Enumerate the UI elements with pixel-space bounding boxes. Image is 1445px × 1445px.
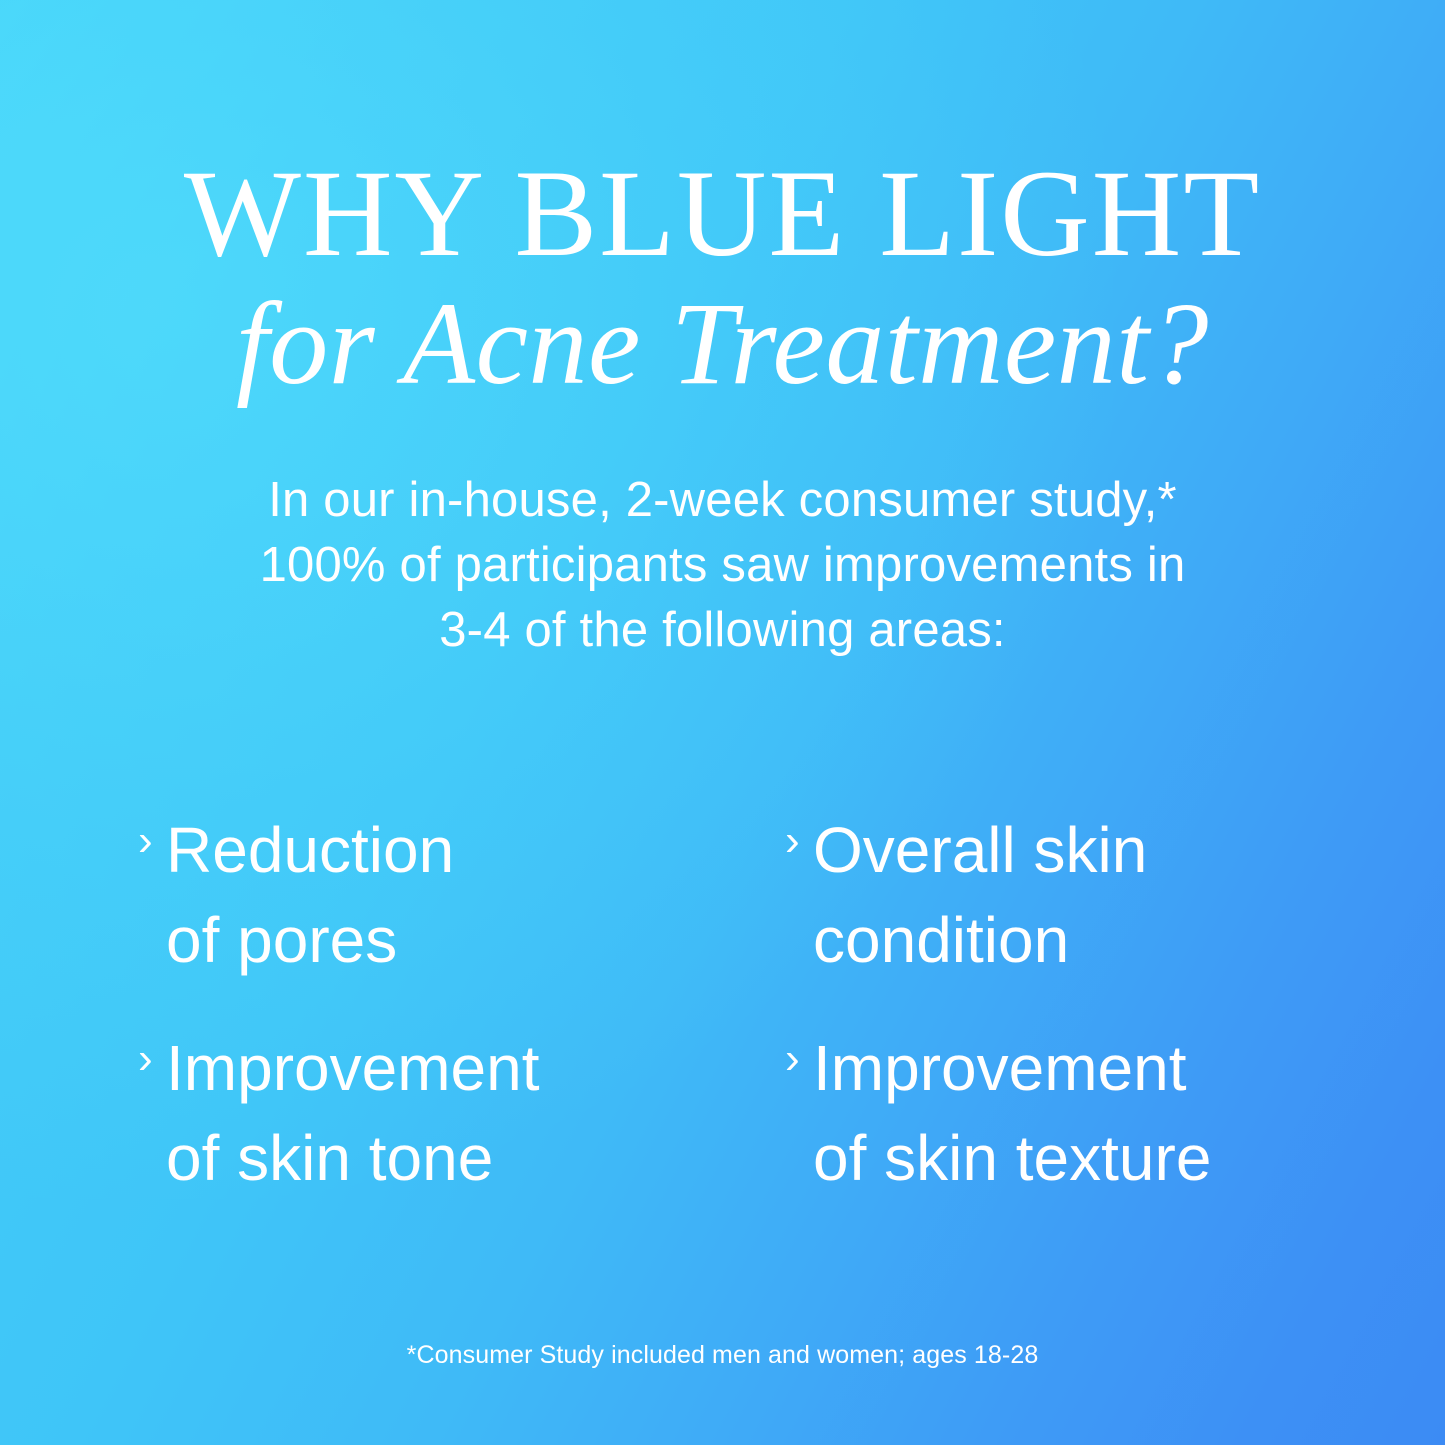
study-description: In our in-house, 2-week consumer study,*… [163,468,1283,663]
benefit-label: Improvement of skin tone [166,1023,539,1203]
chevron-right-icon: › [138,1023,166,1095]
benefit-label: Overall skin condition [813,805,1147,985]
study-description-line-3: 3-4 of the following areas: [163,598,1283,663]
chevron-right-icon: › [138,805,166,877]
benefit-item-overall-skin-condition: › Overall skin condition [785,805,1338,1023]
benefits-grid: › Reduction of pores › Overall skin cond… [138,805,1338,1203]
page-title: WHY BLUE LIGHT for Acne Treatment? [0,0,1445,404]
benefit-item-improvement-of-skin-tone: › Improvement of skin tone [138,1023,785,1203]
study-description-line-1: In our in-house, 2-week consumer study,* [163,468,1283,533]
chevron-right-icon: › [785,805,813,877]
chevron-right-icon: › [785,1023,813,1095]
benefit-item-improvement-of-skin-texture: › Improvement of skin texture [785,1023,1338,1203]
benefit-item-reduction-of-pores: › Reduction of pores [138,805,785,1023]
benefit-label: Improvement of skin texture [813,1023,1211,1203]
promo-card: WHY BLUE LIGHT for Acne Treatment? In ou… [0,0,1445,1445]
headline-line-1: WHY BLUE LIGHT [0,0,1445,276]
study-footnote: *Consumer Study included men and women; … [0,1338,1445,1372]
study-description-line-2: 100% of participants saw improvements in [163,533,1283,598]
headline-line-2: for Acne Treatment? [0,276,1445,404]
benefit-label: Reduction of pores [166,805,454,985]
